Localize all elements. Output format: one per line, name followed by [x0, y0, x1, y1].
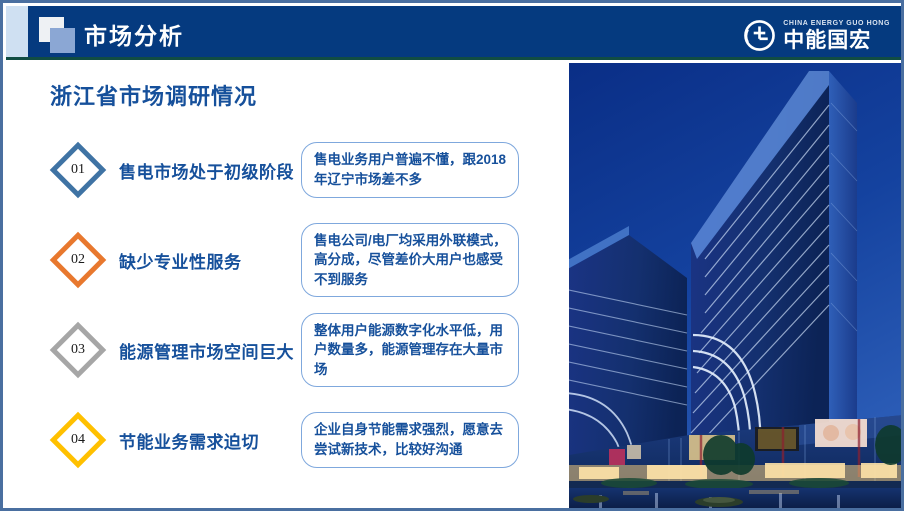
slide-header: 市场分析 CHINA ENERGY GUO HONG 中能国宏	[6, 6, 904, 60]
header-square-blue-icon	[50, 28, 75, 53]
item-callout: 售电业务用户普遍不懂，跟2018年辽宁市场差不多	[301, 142, 519, 197]
diamond-badge-01: 01	[49, 141, 107, 199]
list-item: 04 节能业务需求迫切 企业自身节能需求强烈，愿意去尝试新技术，比较好沟通	[41, 395, 561, 485]
item-label: 节能业务需求迫切	[119, 428, 301, 453]
logo-english-name: CHINA ENERGY GUO HONG	[783, 20, 890, 27]
diamond-badge-02: 02	[49, 231, 107, 289]
diamond-badge-04: 04	[49, 411, 107, 469]
list-item: 01 售电市场处于初级阶段 售电业务用户普遍不懂，跟2018年辽宁市场差不多	[41, 125, 561, 215]
item-number: 03	[49, 321, 107, 379]
building-photo	[569, 63, 904, 511]
item-callout: 整体用户能源数字化水平低，用户数量多，能源管理存在大量市场	[301, 313, 519, 388]
logo-chinese-name: 中能国宏	[783, 30, 890, 51]
item-number: 04	[49, 411, 107, 469]
findings-list: 01 售电市场处于初级阶段 售电业务用户普遍不懂，跟2018年辽宁市场差不多 0…	[41, 125, 561, 485]
header-accent-strip	[6, 6, 28, 57]
item-callout-text: 售电公司/电厂均采用外联模式，高分成，尽管差价大用户也感受不到服务	[314, 233, 507, 287]
section-title: 浙江省市场调研情况	[50, 79, 257, 111]
item-label: 售电市场处于初级阶段	[119, 158, 301, 183]
item-callout-text: 企业自身节能需求强烈，愿意去尝试新技术，比较好沟通	[314, 422, 503, 457]
item-callout: 售电公司/电厂均采用外联模式，高分成，尽管差价大用户也感受不到服务	[301, 223, 519, 298]
diamond-badge-03: 03	[49, 321, 107, 379]
item-label: 缺少专业性服务	[119, 248, 301, 273]
logo-circle-g-icon	[743, 19, 776, 52]
item-callout-text: 整体用户能源数字化水平低，用户数量多，能源管理存在大量市场	[314, 323, 503, 377]
item-number: 02	[49, 231, 107, 289]
page-title: 市场分析	[84, 17, 184, 51]
slide-market-analysis: 市场分析 CHINA ENERGY GUO HONG 中能国宏 浙江省市场调研情…	[0, 0, 904, 511]
list-item: 03 能源管理市场空间巨大 整体用户能源数字化水平低，用户数量多，能源管理存在大…	[41, 305, 561, 395]
item-label: 能源管理市场空间巨大	[119, 338, 301, 363]
item-number: 01	[49, 141, 107, 199]
item-callout: 企业自身节能需求强烈，愿意去尝试新技术，比较好沟通	[301, 412, 519, 467]
company-logo: CHINA ENERGY GUO HONG 中能国宏	[743, 15, 890, 55]
item-callout-text: 售电业务用户普遍不懂，跟2018年辽宁市场差不多	[314, 152, 506, 187]
list-item: 02 缺少专业性服务 售电公司/电厂均采用外联模式，高分成，尽管差价大用户也感受…	[41, 215, 561, 305]
